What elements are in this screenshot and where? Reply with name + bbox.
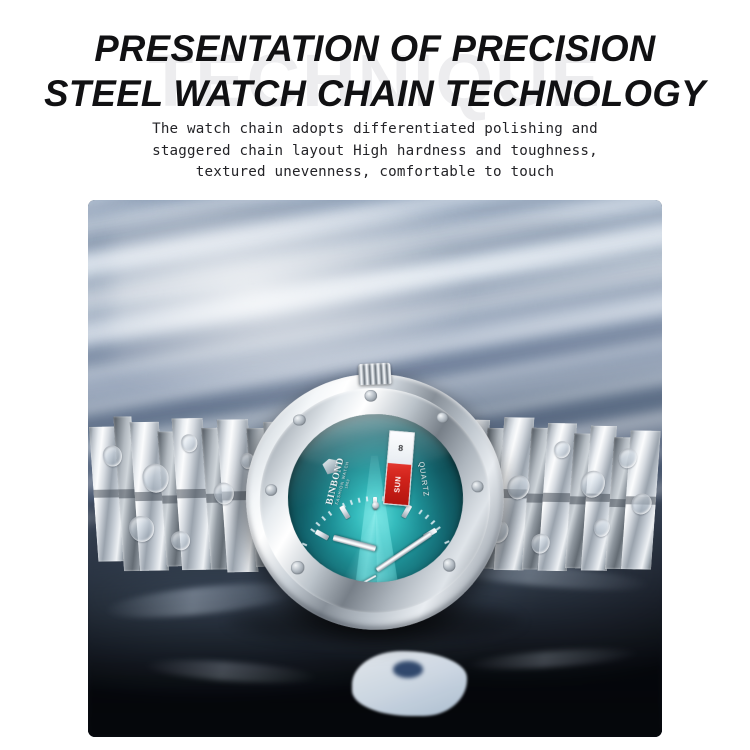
wristwatch: 8 SUN BINBOND FASHION WATCH 1863 QUARTZ: [88, 200, 662, 737]
hour-marker: [305, 562, 376, 568]
bezel-screw: [471, 480, 484, 492]
headline-line-2: STEEL WATCH CHAIN TECHNOLOGY: [6, 71, 745, 116]
day-display: SUN: [384, 462, 411, 505]
hands-center-cap: [372, 502, 379, 509]
description-line-1: The watch chain adopts differentiated po…: [0, 119, 750, 141]
bezel-screw: [265, 484, 278, 497]
header-text-block: TECHNIQUE PRESENTATION OF PRECISION STEE…: [0, 0, 750, 200]
watch-dial: 8 SUN BINBOND FASHION WATCH 1863 QUARTZ: [286, 412, 467, 584]
description-line-2: staggered chain layout High hardness and…: [0, 141, 750, 163]
watch-crown[interactable]: [358, 363, 391, 385]
product-photo: 8 SUN BINBOND FASHION WATCH 1863 QUARTZ: [88, 200, 662, 737]
description-paragraph: The watch chain adopts differentiated po…: [0, 119, 750, 184]
bezel-screw: [364, 390, 376, 402]
description-line-3: textured unevenness, comfortable to touc…: [0, 162, 750, 184]
watch-bezel: 8 SUN BINBOND FASHION WATCH 1863 QUARTZ: [257, 386, 497, 615]
page-title: PRESENTATION OF PRECISION STEEL WATCH CH…: [0, 26, 750, 116]
day-display-text: SUN: [392, 475, 402, 492]
watch-case: 8 SUN BINBOND FASHION WATCH 1863 QUARTZ: [241, 372, 513, 632]
headline-line-1: PRESENTATION OF PRECISION: [6, 26, 745, 71]
